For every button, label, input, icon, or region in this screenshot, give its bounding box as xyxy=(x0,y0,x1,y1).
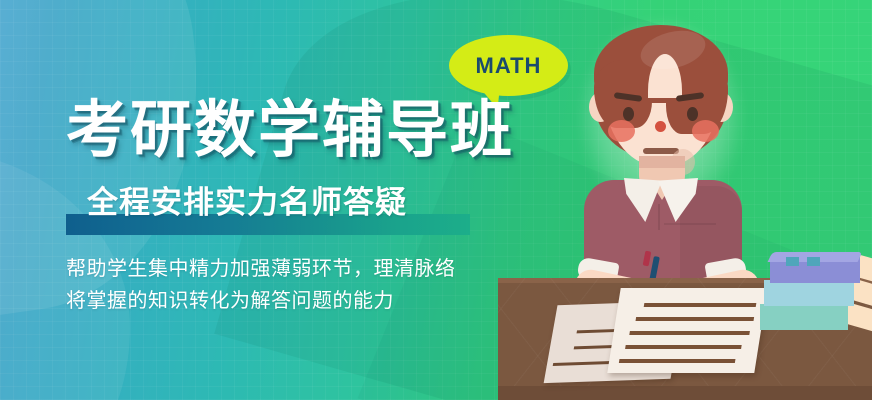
book-stack xyxy=(760,252,872,332)
paper-line xyxy=(553,361,612,366)
book-label-left xyxy=(786,257,799,266)
paper-line xyxy=(619,359,736,363)
banner-subtitle: 全程安排实力名师答疑 xyxy=(87,183,407,223)
banner-title: 考研数学辅导班 xyxy=(66,99,514,161)
paper-line xyxy=(644,303,757,307)
cheek-blush-right xyxy=(692,120,719,142)
paper-line xyxy=(636,317,755,321)
shirt-placket xyxy=(658,204,660,230)
cheek-blush-left xyxy=(608,120,635,142)
book-middle xyxy=(764,280,854,306)
book-label-right xyxy=(807,257,820,266)
course-promo-banner: MATH 考研数学辅导班 全程安排实力名师答疑 帮助学生集中精力加强薄弱环节，理… xyxy=(0,0,872,400)
eye-right xyxy=(687,107,698,121)
banner-description-line-2: 将掌握的知识转化为解答问题的能力 xyxy=(66,284,394,316)
nose xyxy=(655,121,666,132)
paper-line xyxy=(625,345,742,349)
banner-text-block: 考研数学辅导班 全程安排实力名师答疑 帮助学生集中精力加强薄弱环节，理清脉络 将… xyxy=(0,0,560,400)
paper-main xyxy=(607,288,767,373)
book-bottom-pages xyxy=(848,302,872,331)
shirt-seam xyxy=(664,223,716,225)
book-bottom xyxy=(760,304,848,330)
paper-line xyxy=(629,331,750,335)
eye-left xyxy=(623,107,634,121)
book-top-pages xyxy=(860,255,872,284)
banner-subtitle-group: 全程安排实力名师答疑 xyxy=(66,183,470,235)
banner-description-line-1: 帮助学生集中精力加强薄弱环节，理清脉络 xyxy=(66,252,456,284)
neck-shadow xyxy=(639,156,685,168)
